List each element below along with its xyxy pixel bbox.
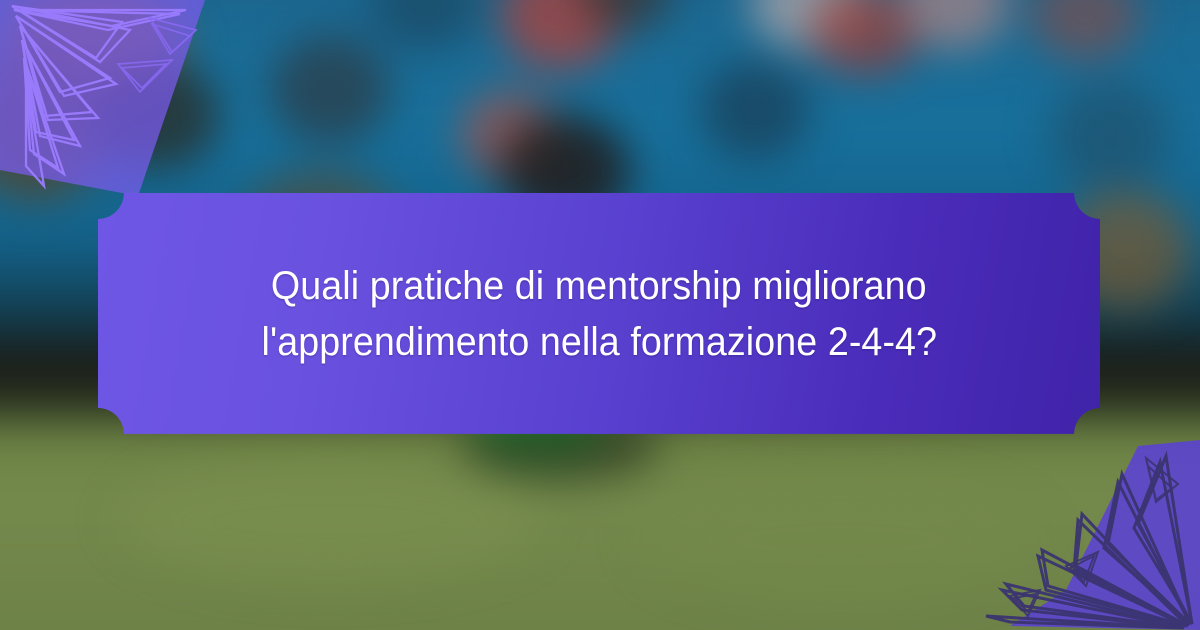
pitch-highlight	[120, 460, 540, 580]
pitch-highlight	[640, 480, 1040, 600]
crowd-blob	[270, 35, 390, 145]
crowd-blob	[1030, 0, 1140, 60]
crowd-blob	[700, 60, 810, 160]
question-text-block: Quali pratiche di mentorship migliorano …	[98, 193, 1100, 434]
question-line-1: Quali pratiche di mentorship migliorano	[271, 265, 927, 307]
crowd-blob	[1050, 80, 1170, 190]
question-card: Quali pratiche di mentorship migliorano …	[98, 193, 1100, 434]
crowd-blob	[90, 60, 220, 170]
crowd-blob	[370, 0, 480, 50]
share-card-canvas: Quali pratiche di mentorship migliorano …	[0, 0, 1200, 630]
question-line-2: l'apprendimento nella formazione 2-4-4?	[261, 321, 937, 363]
